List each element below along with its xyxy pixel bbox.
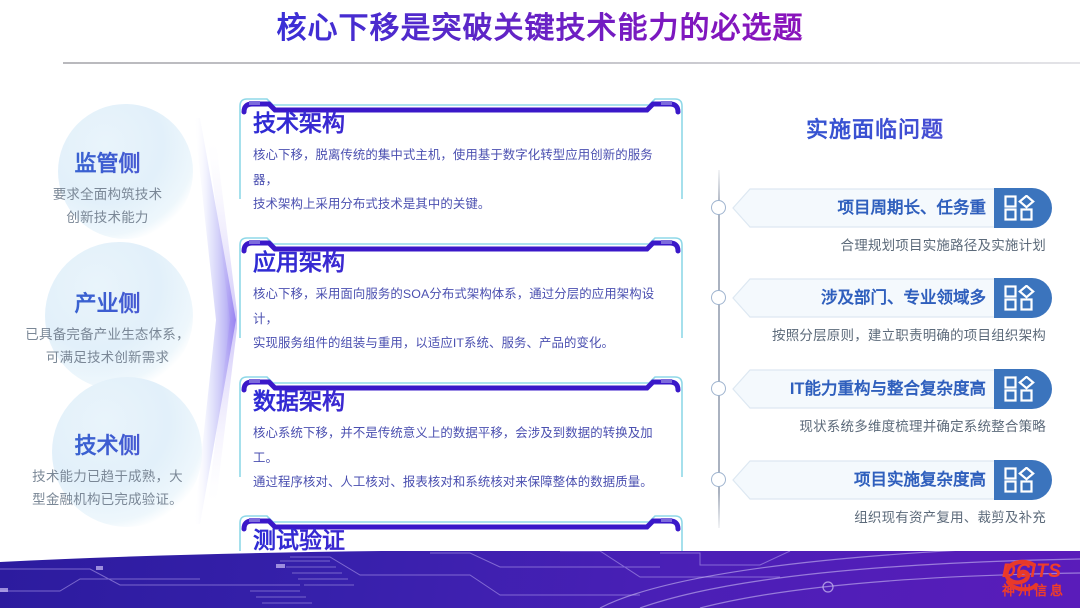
driver-heading: 技术侧 (0, 432, 215, 460)
issue-subtext: 合理规划项目实施路径及实施计划 (732, 234, 1052, 254)
issue-label: 项目周期长、任务重 (838, 188, 987, 228)
issue-pill[interactable]: 项目实施复杂度高 (732, 460, 1052, 500)
issue-subtext: 组织现有资产复用、裁剪及补充 (732, 506, 1052, 526)
driver-text-line-2: 型金融机构已完成验证。 (0, 488, 215, 512)
issue-label: 涉及部门、专业领域多 (821, 278, 986, 318)
grid-diamond-icon (1004, 285, 1044, 311)
issue-badge (994, 369, 1052, 409)
company-logo: DCITS 神州信息 (1002, 558, 1066, 600)
card-text-line-1: 核心下移，脱离传统的集中式主机，使用基于数字化转型应用创新的服务器， (253, 143, 671, 191)
slide-canvas: 核心下移是突破关键技术能力的必选题 监管侧 要求全面构筑技术 创新技术能力 产业… (0, 0, 1080, 608)
issue-badge (994, 188, 1052, 228)
card-text-line-1: 核心系统下移，并不是传统意义上的数据平移，会涉及到数据的转换及加工。 (253, 421, 671, 469)
card-heading: 测试验证 (253, 527, 671, 553)
slide-title-container: 核心下移是突破关键技术能力的必选题 (0, 12, 1080, 45)
grid-diamond-icon (1004, 467, 1044, 493)
issue-pill[interactable]: 涉及部门、专业领域多 (732, 278, 1052, 318)
driver-block-industry: 产业侧 已具备完备产业生态体系， 可满足技术创新需求 (0, 290, 215, 370)
timeline-dot (711, 290, 726, 305)
driver-text-line-2: 可满足技术创新需求 (0, 346, 215, 370)
flow-arrow-icon (186, 112, 244, 532)
issue-item[interactable]: 项目周期长、任务重 合理规划项目实施路径及实施计划 (732, 188, 1052, 254)
page-title: 核心下移是突破关键技术能力的必选题 (277, 12, 804, 45)
footer-top-curve (0, 551, 1080, 572)
issue-badge (994, 460, 1052, 500)
issue-item[interactable]: 项目实施复杂度高 组织现有资产复用、裁剪及补充 (732, 460, 1052, 526)
issue-subtext: 按照分层原则，建立职责明确的项目组织架构 (732, 324, 1052, 344)
left-drivers-column: 监管侧 要求全面构筑技术 创新技术能力 产业侧 已具备完备产业生态体系， 可满足… (0, 92, 215, 532)
driver-text-line-1: 技术能力已趋于成熟，大 (0, 465, 215, 489)
card-heading: 技术架构 (253, 110, 671, 136)
title-divider (63, 62, 1080, 64)
slide-footer: DCITS 神州信息 (0, 551, 1080, 608)
issue-subtext: 现状系统多维度梳理并确定系统整合策略 (732, 415, 1052, 435)
card-heading: 数据架构 (253, 388, 671, 414)
grid-diamond-icon (1004, 376, 1044, 402)
card-text-line-2: 技术架构上采用分布式技术是其中的关键。 (253, 192, 671, 216)
driver-heading: 监管侧 (0, 150, 215, 178)
driver-block-regulatory: 监管侧 要求全面构筑技术 创新技术能力 (0, 150, 215, 230)
grid-diamond-icon (1004, 195, 1044, 221)
driver-text-line-1: 要求全面构筑技术 (0, 183, 215, 207)
architecture-cards-list: 技术架构 核心下移，脱离传统的集中式主机，使用基于数字化转型应用创新的服务器， … (237, 96, 685, 608)
timeline-dot (711, 472, 726, 487)
issue-badge (994, 278, 1052, 318)
issue-pill[interactable]: 项目周期长、任务重 (732, 188, 1052, 228)
issue-pill[interactable]: IT能力重构与整合复杂度高 (732, 369, 1052, 409)
issue-label: 项目实施复杂度高 (854, 460, 986, 500)
issue-item[interactable]: IT能力重构与整合复杂度高 现状系统多维度梳理并确定系统整合策略 (732, 369, 1052, 435)
driver-text-line-2: 创新技术能力 (0, 206, 215, 230)
card-technical-architecture[interactable]: 技术架构 核心下移，脱离传统的集中式主机，使用基于数字化转型应用创新的服务器， … (237, 96, 685, 227)
driver-heading: 产业侧 (0, 290, 215, 318)
card-text-line-1: 核心下移，采用面向服务的SOA分布式架构体系，通过分层的应用架构设计， (253, 282, 671, 330)
card-heading: 应用架构 (253, 249, 671, 275)
issue-label: IT能力重构与整合复杂度高 (790, 369, 986, 409)
implementation-issues-panel: 实施面临问题 项目周期长、任务重 合理规划项目实施路径及实施 (700, 100, 1060, 530)
card-text-line-2: 实现服务组件的组装与重用，以适应IT系统、服务、产品的变化。 (253, 331, 671, 355)
right-panel-title: 实施面临问题 (700, 112, 1050, 144)
card-data-architecture[interactable]: 数据架构 核心系统下移，并不是传统意义上的数据平移，会涉及到数据的转换及加工。 … (237, 374, 685, 505)
card-text-line-2: 通过程序核对、人工核对、报表核对和系统核对来保障整体的数据质量。 (253, 470, 671, 494)
timeline-dot (711, 381, 726, 396)
timeline-dot (711, 200, 726, 215)
driver-block-technology: 技术侧 技术能力已趋于成熟，大 型金融机构已完成验证。 (0, 432, 215, 512)
card-application-architecture[interactable]: 应用架构 核心下移，采用面向服务的SOA分布式架构体系，通过分层的应用架构设计，… (237, 235, 685, 366)
dcits-swirl-icon (1002, 558, 1042, 594)
driver-text-line-1: 已具备完备产业生态体系， (0, 323, 215, 347)
issue-item[interactable]: 涉及部门、专业领域多 按照分层原则，建立职责明确的项目组织架构 (732, 278, 1052, 344)
